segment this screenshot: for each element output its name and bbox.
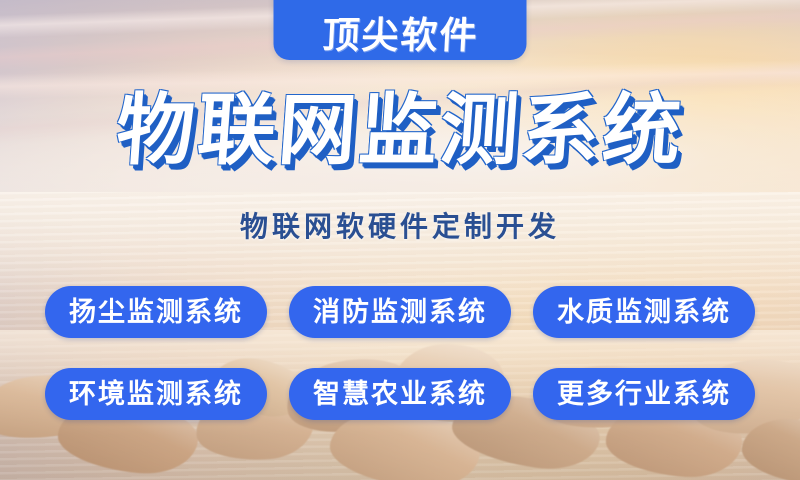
brand-badge[interactable]: 顶尖软件 [274,0,527,60]
category-button-water[interactable]: 水质监测系统 [533,286,755,338]
category-button-environment[interactable]: 环境监测系统 [45,368,267,420]
category-button-row-1: 扬尘监测系统 消防监测系统 水质监测系统 [45,286,755,338]
category-button-row-2: 环境监测系统 智慧农业系统 更多行业系统 [45,368,755,420]
brand-badge-label: 顶尖软件 [321,17,479,54]
banner-content: 顶尖软件 物联网监测系统 物联网软硬件定制开发 扬尘监测系统 消防监测系统 水质… [0,0,800,480]
category-button-more[interactable]: 更多行业系统 [533,368,755,420]
category-button-agriculture[interactable]: 智慧农业系统 [289,368,511,420]
page-subtitle: 物联网软硬件定制开发 [0,210,800,244]
promo-banner: 顶尖软件 物联网监测系统 物联网软硬件定制开发 扬尘监测系统 消防监测系统 水质… [0,0,800,480]
category-button-grid: 扬尘监测系统 消防监测系统 水质监测系统 环境监测系统 智慧农业系统 更多行业系… [0,286,800,420]
page-title: 物联网监测系统 [0,92,800,170]
category-button-fire[interactable]: 消防监测系统 [289,286,511,338]
category-button-dust[interactable]: 扬尘监测系统 [45,286,267,338]
